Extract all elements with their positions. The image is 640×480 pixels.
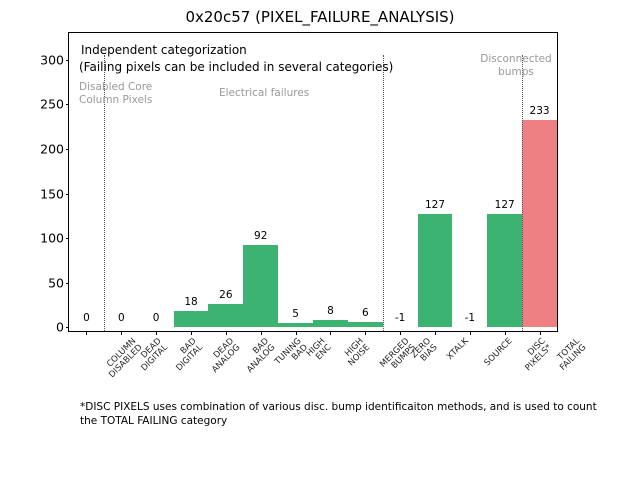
bar-value-label: 127 [425,199,445,211]
y-tick-mark [66,149,70,150]
bar [208,304,243,327]
x-tick-label: ZEROBIAS [410,337,440,367]
annotation-disconnected-bumps: Disconnectedbumps [461,53,571,79]
bar-value-label: 233 [530,105,550,117]
bar-value-label: 8 [327,305,334,317]
y-tick-label: 250 [40,97,64,112]
y-tick-mark [66,104,70,105]
bar-value-label: -1 [465,312,475,324]
y-tick-mark [66,194,70,195]
bar-value-label: 92 [254,230,267,242]
bar [243,245,278,327]
bar-value-label: 26 [219,289,232,301]
bar-value-label: 0 [153,312,160,324]
x-tick-label: BADANALOG [239,337,277,375]
bar [487,214,522,327]
x-tick-mark [505,331,506,335]
x-tick-mark [156,331,157,335]
bar [174,311,209,327]
category-divider [383,55,384,331]
x-tick-mark [121,331,122,335]
bar-value-label: 127 [495,199,515,211]
x-tick-mark [191,331,192,335]
y-tick-mark [66,327,70,328]
x-tick-mark [470,331,471,335]
x-tick-mark [296,331,297,335]
x-tick-mark [261,331,262,335]
figure: 0x20c57 (PIXEL_FAILURE_ANALYSIS) Number … [0,0,640,480]
x-tick-mark [400,331,401,335]
bar [348,322,383,327]
annotation-independent-categorization: Independent categorization [81,43,247,58]
bar-value-label: 5 [292,308,299,320]
x-tick-label: BADDIGITAL [169,337,206,374]
y-tick-label: 200 [40,141,64,156]
y-tick-label: 300 [40,52,64,67]
bar-value-label: 0 [83,312,90,324]
x-tick-mark [330,331,331,335]
chart-footnote: *DISC PIXELS uses combination of various… [80,400,600,428]
x-tick-label: SOURCE [483,337,514,368]
annotation-disconnected-line1: Disconnected [480,53,551,65]
bar-value-label: 6 [362,307,369,319]
x-tick-label: DEADDIGITAL [134,337,171,374]
annotation-disabled-core-column-pixels: Disabled CoreColumn Pixels [79,81,152,107]
x-tick-label: DISCPIXELS* [517,337,554,374]
chart-title: 0x20c57 (PIXEL_FAILURE_ANALYSIS) [0,8,640,26]
y-tick-label: 150 [40,186,64,201]
bar-value-label: -1 [395,312,405,324]
y-tick-mark [66,238,70,239]
plot-area: Number of pixels 050100150200250300 0001… [68,32,558,332]
x-tick-label: HIGHNOISE [341,337,373,369]
x-tick-mark [86,331,87,335]
x-tick-mark [435,331,436,335]
bar [418,214,453,327]
x-tick-label: DEADANALOG [204,337,242,375]
annotation-disabled-line2: Column Pixels [79,94,152,106]
x-tick-mark [365,331,366,335]
x-tick-label: TUNINGBAD [273,337,310,374]
y-tick-label: 0 [56,320,64,335]
bar [522,120,557,328]
x-tick-label: XTALK [446,337,471,362]
plot-inner: Number of pixels 050100150200250300 0001… [69,33,557,331]
annotation-disabled-line1: Disabled Core [79,81,152,93]
x-tick-mark [226,331,227,335]
annotation-independent-categorization-sub: (Failing pixels can be included in sever… [79,60,393,75]
category-divider [522,55,523,331]
bar [313,320,348,327]
bar [278,323,313,327]
y-tick-label: 50 [48,275,64,290]
x-tick-label: HIGHENC [305,337,334,366]
annotation-electrical-failures: Electrical failures [219,87,309,100]
y-tick-mark [66,283,70,284]
bar-value-label: 0 [118,312,125,324]
annotation-disconnected-line2: bumps [498,66,534,78]
x-tick-label: TOTALFAILING [552,337,588,373]
bar-value-label: 18 [184,296,197,308]
y-tick-label: 100 [40,231,64,246]
x-tick-mark [540,331,541,335]
y-tick-mark [66,60,70,61]
